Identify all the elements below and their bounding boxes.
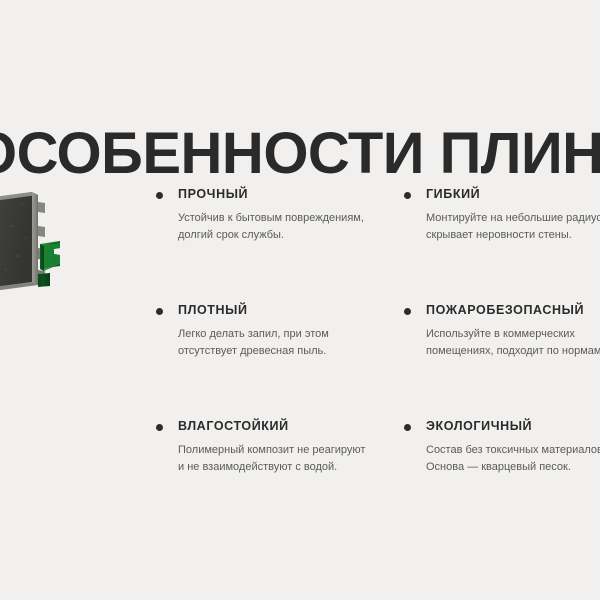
feature-item: ЭКОЛОГИЧНЫЙ Состав без токсичных материа… xyxy=(400,418,600,510)
feature-title: ГИБКИЙ xyxy=(426,186,600,202)
bullet-dot-icon xyxy=(156,424,163,431)
feature-description: Полимерный композит не реагируют и не вз… xyxy=(178,442,367,475)
features-section: ПРОЧНЫЙ Устойчив к бытовым повреждениям,… xyxy=(0,186,600,516)
feature-item: ГИБКИЙ Монтируйте на небольшие радиусы, … xyxy=(400,186,600,278)
feature-title: ВЛАГОСТОЙКИЙ xyxy=(178,418,367,434)
feature-title: ПЛОТНЫЙ xyxy=(178,302,367,318)
bullet-dot-icon xyxy=(404,308,411,315)
feature-title: ПРОЧНЫЙ xyxy=(178,186,367,202)
slide-root: ОСОБЕННОСТИ ПЛИНТУСА xyxy=(0,0,600,600)
feature-description: Легко делать запил, при этом отсутствует… xyxy=(178,326,367,359)
bullet-dot-icon xyxy=(404,424,411,431)
bullet-dot-icon xyxy=(404,192,411,199)
page-title: ОСОБЕННОСТИ ПЛИНТУСА xyxy=(0,123,600,185)
feature-title: ПОЖАРОБЕЗОПАСНЫЙ xyxy=(426,302,600,318)
feature-item: ПЛОТНЫЙ Легко делать запил, при этом отс… xyxy=(152,302,367,394)
feature-item: ПРОЧНЫЙ Устойчив к бытовым повреждениям,… xyxy=(152,186,367,278)
bullet-dot-icon xyxy=(156,308,163,315)
feature-item: ВЛАГОСТОЙКИЙ Полимерный композит не реаг… xyxy=(152,418,367,510)
feature-description: Устойчив к бытовым повреждениям, долгий … xyxy=(178,210,367,243)
feature-item: ПОЖАРОБЕЗОПАСНЫЙ Используйте в коммерчес… xyxy=(400,302,600,394)
features-column-right: ГИБКИЙ Монтируйте на небольшие радиусы, … xyxy=(400,186,600,510)
features-column-left: ПРОЧНЫЙ Устойчив к бытовым повреждениям,… xyxy=(152,186,367,510)
feature-description: Используйте в коммерческих помещениях, п… xyxy=(426,326,600,359)
feature-description: Монтируйте на небольшие радиусы, скрывае… xyxy=(426,210,600,243)
bullet-dot-icon xyxy=(156,192,163,199)
feature-title: ЭКОЛОГИЧНЫЙ xyxy=(426,418,600,434)
feature-description: Состав без токсичных материалов. Основа … xyxy=(426,442,600,475)
